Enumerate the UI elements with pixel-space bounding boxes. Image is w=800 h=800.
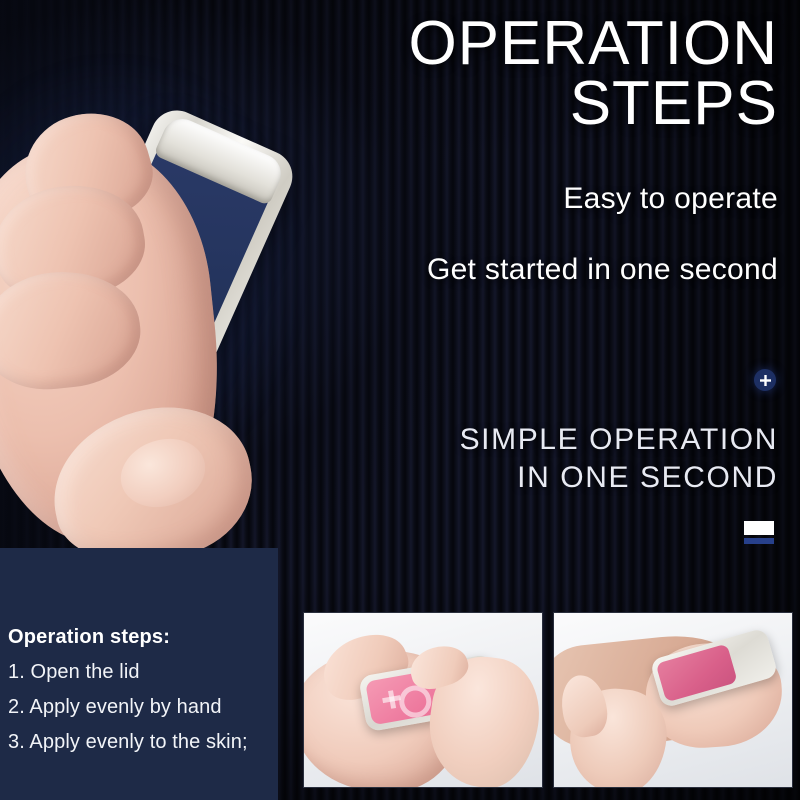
step-photo-open-lid — [303, 612, 543, 788]
tagline-get-started: Get started in one second — [427, 253, 778, 287]
plus-icon — [754, 369, 776, 391]
headline-line-1: OPERATION — [408, 9, 778, 78]
step-photo-gallery — [303, 612, 793, 788]
step-photo-apply-to-skin — [553, 612, 793, 788]
list-item: 3. Apply evenly to the skin; — [8, 731, 272, 754]
headline-line-2: STEPS — [238, 74, 778, 134]
subheading: SIMPLE OPERATION IN ONE SECOND — [278, 421, 778, 498]
list-item: 2. Apply evenly by hand — [8, 696, 272, 719]
bar-mark-icon — [744, 521, 774, 544]
bar-mark-white — [744, 521, 774, 535]
thumb-a-label-cross-icon — [382, 695, 401, 703]
page-title: OPERATION STEPS — [238, 14, 778, 133]
list-item: 1. Open the lid — [8, 661, 272, 684]
bar-mark-blue — [744, 538, 774, 544]
operation-steps-title: Operation steps: — [8, 626, 272, 649]
subheading-line-2: IN ONE SECOND — [278, 459, 778, 497]
subheading-line-1: SIMPLE OPERATION — [460, 423, 778, 456]
poster-root: Attractant 清爽香氛露 净含量 10g OPERATION STEPS… — [0, 0, 800, 800]
operation-steps-panel: Operation steps: 1. Open the lid 2. Appl… — [0, 548, 278, 800]
tagline-easy-to-operate: Easy to operate — [563, 182, 778, 216]
operation-steps-content: Operation steps: 1. Open the lid 2. Appl… — [8, 626, 272, 766]
